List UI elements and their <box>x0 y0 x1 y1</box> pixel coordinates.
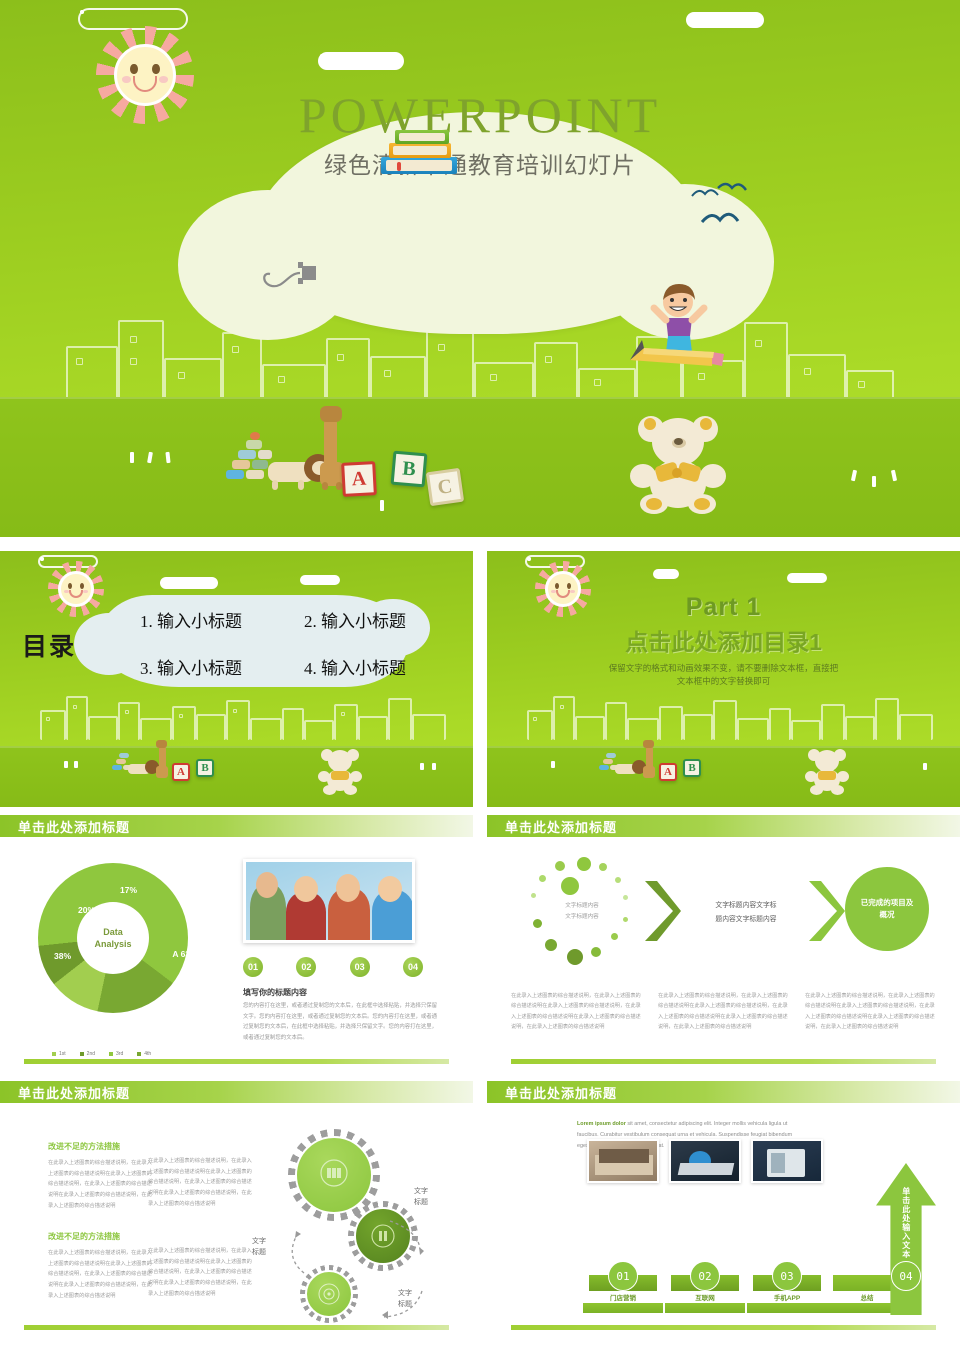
donut-label-20: 20% <box>78 905 95 915</box>
text-block-2: . 在此录入上述图表的综合描述说明，在此录入上述图表的综合描述说明在此录入上述图… <box>148 1141 252 1209</box>
dotted-ring-graphic: 文字标题内容 文字标题内容 <box>529 857 635 963</box>
slide-bottom-bar <box>511 1059 936 1064</box>
kid-on-pencil-icon <box>630 278 730 374</box>
chevron-arrow-light <box>807 879 847 943</box>
gear-label-left: 文字 标题 <box>252 1237 266 1258</box>
chart-legend: 1st 2nd 3rd 4th <box>52 1051 151 1057</box>
grass-tick <box>74 761 78 768</box>
gear-label-2-line1: 文字 <box>252 1237 266 1248</box>
toc-item-3[interactable]: 3. 输入小标题 <box>140 654 296 679</box>
city-skyline <box>0 688 473 740</box>
donut-label-38: 38% <box>54 951 71 961</box>
abc-block-b: B <box>683 759 701 777</box>
slide-title-text: 单击此处添加标题 <box>505 1083 617 1102</box>
gear-label-3-line1: 文字 <box>398 1289 412 1300</box>
city-skyline <box>487 688 960 740</box>
teddy-bear-icon <box>630 412 726 514</box>
content-block-body: 您的内容打在这里，或者通过复制您的文本后，在此框中选择粘贴，并选择只保留文字。您… <box>243 1001 439 1043</box>
number-badge-03[interactable]: 03 <box>350 957 370 977</box>
grass-tick <box>923 763 927 770</box>
abc-block-a: A <box>172 763 190 781</box>
teddy-bear-icon <box>805 747 849 795</box>
grass-tick <box>64 761 68 768</box>
number-badge-01[interactable]: 01 <box>243 957 263 977</box>
slide-title-text: 单击此处添加标题 <box>505 817 617 836</box>
abc-letter: B <box>401 457 416 481</box>
abc-letter: C <box>436 475 454 500</box>
abc-block-a: A <box>659 763 677 781</box>
abc-block-c: C <box>426 468 464 506</box>
slide-title-text: 单击此处添加标题 <box>18 817 130 836</box>
cloud-solid-icon <box>653 569 679 579</box>
abc-letter: B <box>201 762 208 774</box>
process-end-circle[interactable]: 已完成的项目及 概况 <box>845 867 929 951</box>
slide-part-1[interactable]: Part 1 点击此处添加目录1 保留文字的格式和动画效果不变，请不要删除文本框… <box>487 551 960 807</box>
grass-band <box>0 746 473 807</box>
step-label-3: 手机APP <box>774 1292 800 1302</box>
grass-tick <box>420 763 424 770</box>
description-column-2: 在此录入上述图表的综合描述说明，在此录入上述图表的综合描述说明在此录入上述图表的… <box>658 991 789 1033</box>
slide-title-bar: 单击此处添加标题 <box>487 815 960 837</box>
toc-item-2[interactable]: 2. 输入小标题 <box>304 607 460 632</box>
giraffe-toy-icon <box>155 739 171 779</box>
process-middle-line-1: 文字标题内容文字标 <box>691 899 801 913</box>
text-block-3: 改进不足的方法措施 在此录入上述图表的综合描述说明，在此录入上述图表的综合描述说… <box>48 1231 152 1301</box>
gear-label-1-line2: 标题 <box>414 1198 428 1209</box>
process-end-line-2: 概况 <box>861 909 914 921</box>
number-badge-row: 01 02 03 04 <box>243 957 423 977</box>
ring-text-group: 文字标题内容 文字标题内容 <box>529 901 635 922</box>
slide-steps[interactable]: 单击此处添加标题 Lorem ipsum dolor sit amet, con… <box>487 1081 960 1337</box>
slide-bottom-bar <box>24 1325 449 1330</box>
donut-center-text-2: Analysis <box>94 938 131 950</box>
text-block-2-body: 在此录入上述图表的综合描述说明，在此录入上述图表的综合描述说明在此录入上述图表的… <box>48 1248 152 1301</box>
step-number-4: 04 <box>891 1261 921 1291</box>
text-block-1-body-cont: 在此录入上述图表的综合描述说明，在此录入上述图表的综合描述说明在此录入上述图表的… <box>148 1156 252 1209</box>
part-note-line-2: 文本框中的文字替换即可 <box>487 675 960 688</box>
thumbnail-internet <box>669 1139 741 1183</box>
process-middle-text: 文字标题内容文字标 题内容文字标题内容 <box>691 899 801 928</box>
legend-label: 4th <box>144 1051 151 1057</box>
text-block-1: 改进不足的方法措施 在此录入上述图表的综合描述说明，在此录入上述图表的综合描述说… <box>48 1141 152 1211</box>
content-block-heading: 填写你的标题内容 <box>243 987 307 998</box>
donut-center-text-1: Data <box>103 926 123 938</box>
slide-bottom-bar <box>511 1325 936 1330</box>
gear-label-2-line2: 标题 <box>252 1248 266 1259</box>
gear-label-3-line2: 标题 <box>398 1300 412 1311</box>
thumbnail-storefront <box>587 1139 659 1183</box>
slide-chart[interactable]: 单击此处添加标题 Data Analysis Data Analysis 17%… <box>0 815 473 1071</box>
grass-tick <box>432 763 436 770</box>
text-block-2-body-cont: 在此录入上述图表的综合描述说明，在此录入上述图表的综合描述说明在此录入上述图表的… <box>148 1246 252 1299</box>
step-number-2: 02 <box>690 1261 720 1291</box>
text-block-2-heading: 改进不足的方法措施 <box>48 1231 152 1242</box>
step-label-4: 总结 <box>861 1292 874 1302</box>
slide-title-bar: 单击此处添加标题 <box>0 815 473 837</box>
description-column-3: 在此录入上述图表的综合描述说明，在此录入上述图表的综合描述说明在此录入上述图表的… <box>805 991 936 1033</box>
page-title: POWERPOINT <box>0 86 960 144</box>
process-middle-line-2: 题内容文字标题内容 <box>691 913 801 927</box>
gear-label-right-bottom: 文字 标题 <box>398 1289 412 1310</box>
legend-label: 3rd <box>116 1051 123 1057</box>
slide-bottom-bar <box>24 1059 449 1064</box>
description-columns: 在此录入上述图表的综合描述说明，在此录入上述图表的综合描述说明在此录入上述图表的… <box>511 991 936 1033</box>
giraffe-toy-icon <box>642 739 658 779</box>
step-label-2: 互联网 <box>695 1292 715 1302</box>
slide-gears[interactable]: 单击此处添加标题 改进不足的方法措施 在此录入上述图表的综合描述说明，在此录入上… <box>0 1081 473 1337</box>
part-label: Part 1 <box>487 593 960 622</box>
part-title-group: Part 1 点击此处添加目录1 保留文字的格式和动画效果不变，请不要删除文本框… <box>487 593 960 688</box>
abc-block-b: B <box>196 759 214 777</box>
abc-letter: A <box>351 467 367 491</box>
part-heading: 点击此处添加目录1 <box>487 623 960 657</box>
cloud-solid-icon <box>787 573 827 583</box>
abc-block-a: A <box>341 461 377 497</box>
text-block-4: . 在此录入上述图表的综合描述说明，在此录入上述图表的综合描述说明在此录入上述图… <box>148 1231 252 1299</box>
abc-block-b: B <box>391 451 428 488</box>
book-stack-icon <box>381 116 459 174</box>
children-photo <box>243 859 415 943</box>
plug-icon <box>258 258 318 288</box>
gear-label-right-top: 文字 标题 <box>414 1187 428 1208</box>
legend-item-3rd: 3rd <box>109 1051 123 1057</box>
page-subtitle: 绿色清新卡通教育培训幻灯片 <box>0 146 960 180</box>
cloud-solid-icon <box>686 12 764 28</box>
sun-icon <box>48 561 104 617</box>
slide-title[interactable]: POWERPOINT 绿色清新卡通教育培训幻灯片 <box>0 0 960 537</box>
ring-text-line-1: 文字标题内容 <box>529 901 635 912</box>
donut-chart[interactable]: Data Analysis Data Analysis 17% 20% 38% … <box>38 863 188 1013</box>
legend-label: 2nd <box>87 1051 95 1057</box>
cloud-solid-icon <box>318 52 404 70</box>
abc-letter: A <box>664 766 672 778</box>
grass-tick <box>130 452 134 463</box>
process-end-line-1: 已完成的项目及 <box>861 897 914 909</box>
number-badge-04[interactable]: 04 <box>403 957 423 977</box>
chevron-arrow-dark <box>643 879 683 943</box>
toc-item-list: 1. 输入小标题 2. 输入小标题 3. 输入小标题 4. 输入小标题 <box>140 607 460 679</box>
cloud-solid-icon <box>160 577 218 589</box>
abc-letter: B <box>688 762 695 774</box>
legend-label: 1st <box>59 1051 66 1057</box>
lorem-bold-lead: Lorem ipsum dolor <box>577 1121 626 1127</box>
grass-tick <box>872 476 876 487</box>
abc-letter: A <box>177 766 185 778</box>
ring-text-line-2: 文字标题内容 <box>529 912 635 923</box>
legend-item-4th: 4th <box>137 1051 151 1057</box>
donut-label-a-63: A 63% <box>171 949 199 960</box>
grass-tick <box>551 761 555 768</box>
thumbnail-mobile-app <box>751 1139 823 1183</box>
slide-process[interactable]: 单击此处添加标题 文字标题内容 文字标题内容 文字标题内容文字标 题内容文字标题… <box>487 815 960 1071</box>
birds-icon <box>690 182 760 242</box>
cloud-solid-icon <box>300 575 340 585</box>
part-note-line-1: 保留文字的格式和动画效果不变，请不要删除文本框，直接把 <box>487 662 960 675</box>
upward-arrow-graphic: 单击此处输入文本 <box>876 1163 936 1315</box>
arrow-text: 单击此处输入文本 <box>899 1187 913 1259</box>
step-label-1: 门店营销 <box>610 1292 636 1302</box>
slide-table-of-contents[interactable]: 目录 1. 输入小标题 2. 输入小标题 3. 输入小标题 4. 输入小标题 A… <box>0 551 473 807</box>
donut-label-17: 17% <box>120 885 137 895</box>
description-column-1: 在此录入上述图表的综合描述说明，在此录入上述图表的综合描述说明在此录入上述图表的… <box>511 991 642 1033</box>
number-badge-02[interactable]: 02 <box>296 957 316 977</box>
text-block-1-heading: 改进不足的方法措施 <box>48 1141 152 1152</box>
teddy-bear-icon <box>318 747 362 795</box>
gear-label-1-line1: 文字 <box>414 1187 428 1198</box>
gear-connectors <box>282 1121 472 1337</box>
slide-title-text: 单击此处添加标题 <box>18 1083 130 1102</box>
title-text-group: POWERPOINT 绿色清新卡通教育培训幻灯片 <box>0 86 960 180</box>
toc-heading: 目录 <box>22 627 76 663</box>
slide-title-bar: 单击此处添加标题 <box>0 1081 473 1103</box>
legend-item-2nd: 2nd <box>80 1051 95 1057</box>
text-block-1-body: 在此录入上述图表的综合描述说明，在此录入上述图表的综合描述说明在此录入上述图表的… <box>48 1158 152 1211</box>
toc-item-1[interactable]: 1. 输入小标题 <box>140 607 296 632</box>
step-number-3: 03 <box>772 1261 802 1291</box>
grass-tick <box>380 500 384 511</box>
legend-item-1st: 1st <box>52 1051 66 1057</box>
grass-band <box>0 397 960 537</box>
slide-title-bar: 单击此处添加标题 <box>487 1081 960 1103</box>
toc-item-4[interactable]: 4. 输入小标题 <box>304 654 460 679</box>
step-number-1: 01 <box>608 1261 638 1291</box>
grass-band <box>487 746 960 807</box>
